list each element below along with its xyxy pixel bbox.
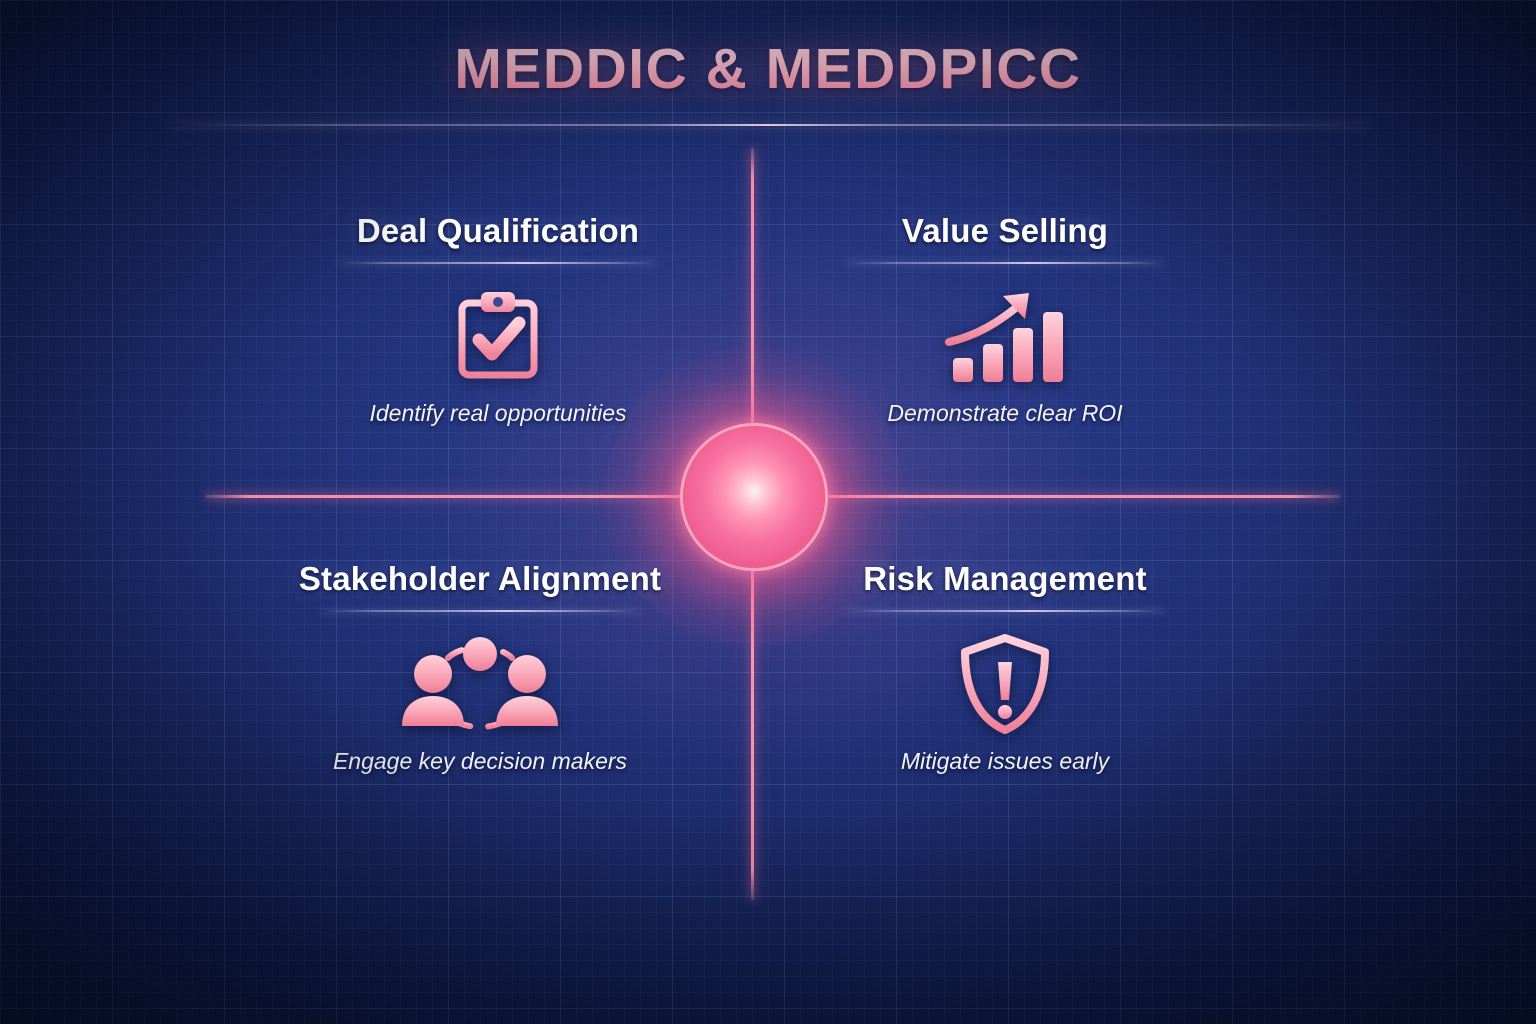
quadrant-heading: Stakeholder Alignment [270, 560, 690, 598]
heading-underline [338, 262, 658, 264]
page-title: MEDDIC & MEDDPICC [0, 36, 1536, 102]
clipboard-check-icon [288, 280, 708, 392]
quadrant-subtitle: Demonstrate clear ROI [795, 400, 1215, 427]
title-divider [168, 124, 1368, 126]
shield-alert-icon [795, 628, 1215, 740]
quadrant-subtitle: Identify real opportunities [288, 400, 708, 427]
quadrant-deal-qualification[interactable]: Deal Qualification Identify real opportu… [288, 212, 708, 427]
quadrant-heading: Risk Management [795, 560, 1215, 598]
quadrant-heading: Deal Qualification [288, 212, 708, 250]
quadrant-subtitle: Engage key decision makers [270, 748, 690, 775]
quadrant-risk-management[interactable]: Risk Management Mitigate issues early [795, 560, 1215, 775]
heading-underline [320, 610, 640, 612]
quadrant-stakeholder-alignment[interactable]: Stakeholder Alignment Eng [270, 560, 690, 775]
infographic-canvas: MEDDIC & MEDDPICC Deal Qualification [0, 0, 1536, 1024]
heading-underline [845, 610, 1165, 612]
quadrant-value-selling[interactable]: Value Selling Demonstrate clear RO [795, 212, 1215, 427]
orb-core [683, 426, 825, 568]
quadrant-heading: Value Selling [795, 212, 1215, 250]
growth-bar-chart-icon [795, 280, 1215, 392]
people-network-icon [270, 628, 690, 740]
heading-underline [845, 262, 1165, 264]
quadrant-subtitle: Mitigate issues early [795, 748, 1215, 775]
